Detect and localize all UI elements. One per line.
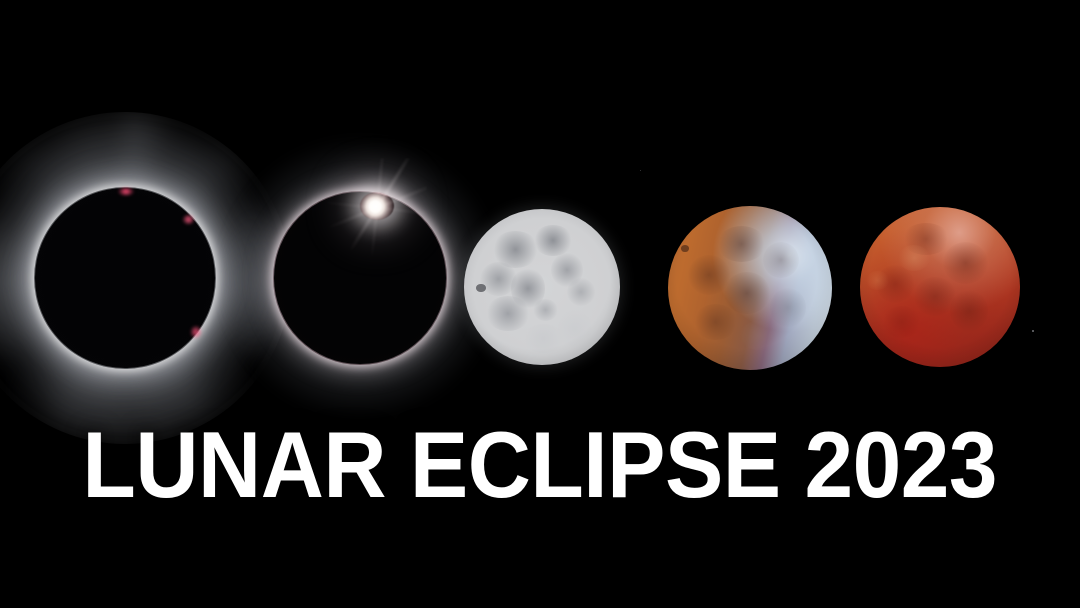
title-block: LUNAR ECLIPSE 2023 xyxy=(0,418,1080,512)
star xyxy=(1032,330,1034,332)
solar-prominence xyxy=(191,326,201,338)
solar-prominence xyxy=(118,188,134,195)
diamond-ring-bead xyxy=(360,192,394,220)
solar-prominence xyxy=(183,215,194,224)
moon-disc xyxy=(860,207,1020,367)
total-solar-eclipse-image xyxy=(5,158,245,398)
page-title: LUNAR ECLIPSE 2023 xyxy=(83,418,998,512)
limb-darkening xyxy=(860,207,1020,367)
full-moon-image xyxy=(464,209,620,365)
limb-darkening xyxy=(464,209,620,365)
total-lunar-eclipse-image xyxy=(860,207,1020,367)
moon-disc xyxy=(464,209,620,365)
eclipse-poster: LUNAR ECLIPSE 2023 xyxy=(0,0,1080,608)
diamond-ring-eclipse-image xyxy=(248,166,472,390)
star xyxy=(640,170,641,171)
moon-disc xyxy=(668,206,832,370)
limb-darkening xyxy=(668,206,832,370)
partial-lunar-eclipse-image xyxy=(668,206,832,370)
